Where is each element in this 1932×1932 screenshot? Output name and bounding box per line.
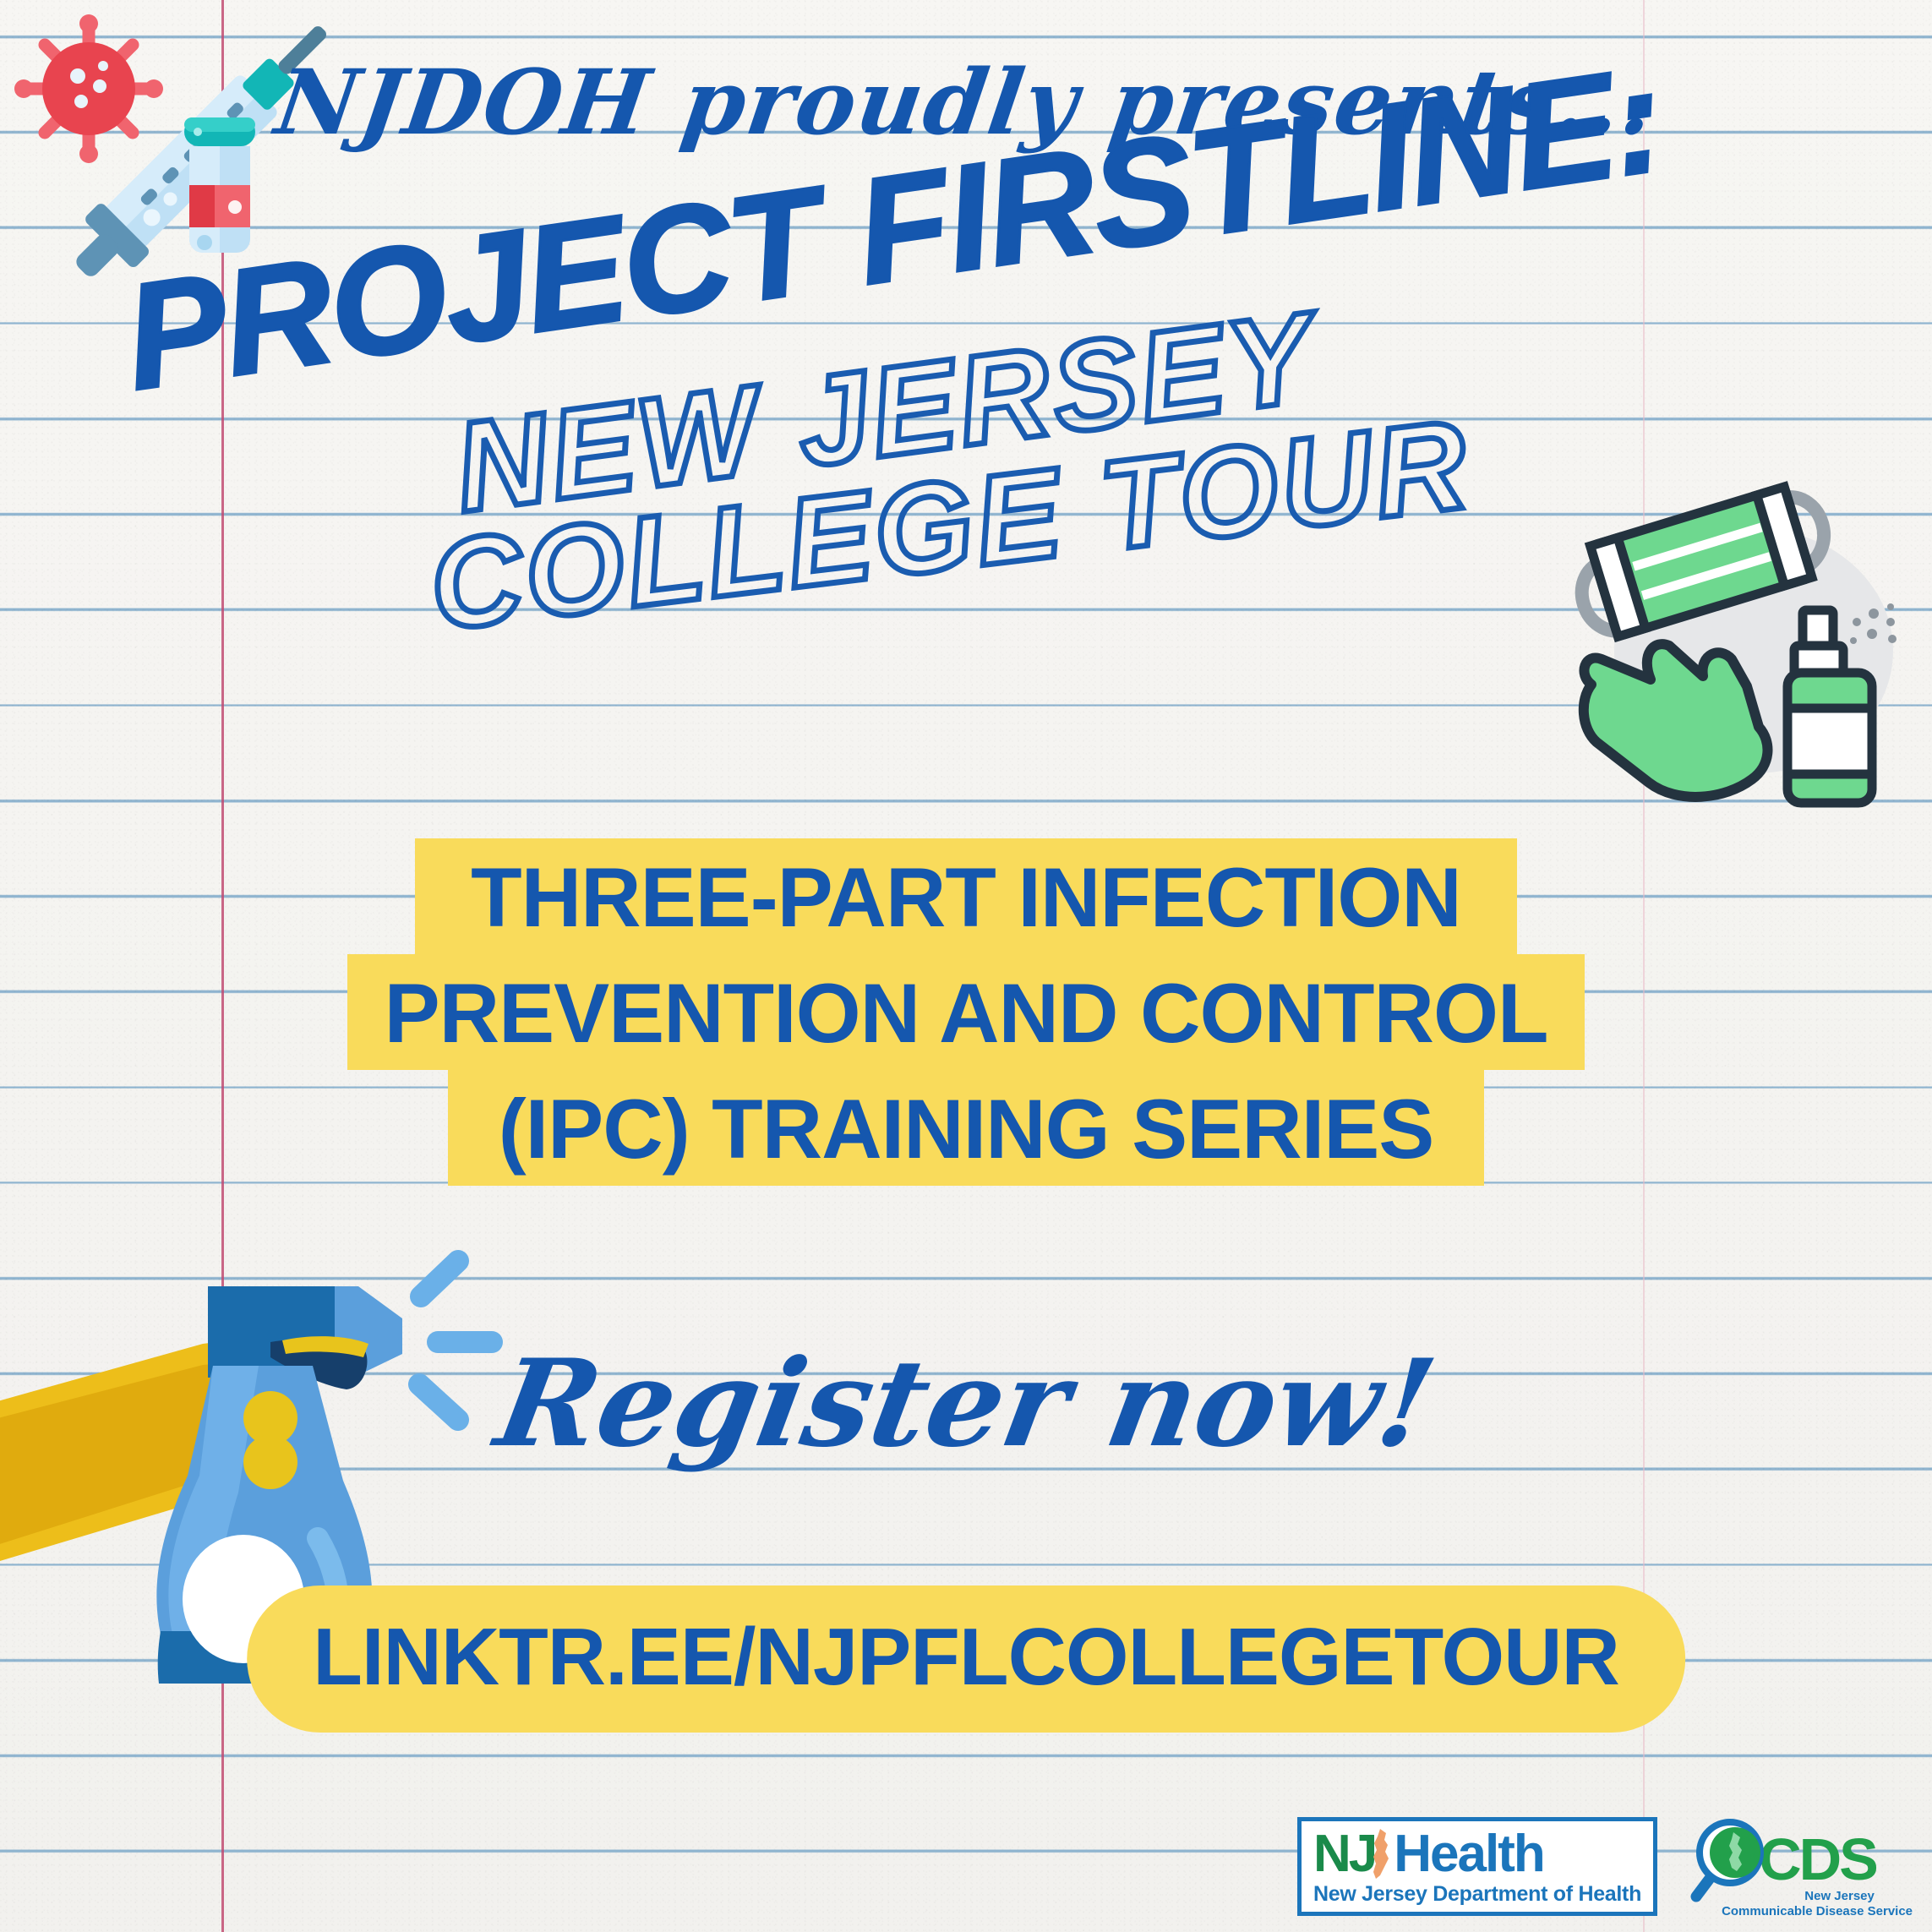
cds-wordmark: CDS bbox=[1759, 1830, 1876, 1889]
registration-url-button[interactable]: LINKTR.EE/NJPFLCOLLEGETOUR bbox=[247, 1585, 1685, 1733]
cds-logo: CDS New Jersey Communicable Disease Serv… bbox=[1689, 1815, 1876, 1917]
magnifying-glass-icon bbox=[1689, 1815, 1771, 1903]
nj-health-nj-text: NJ bbox=[1313, 1828, 1375, 1880]
cds-tagline: Communicable Disease Service bbox=[1722, 1904, 1913, 1918]
nj-health-health-text: Health bbox=[1394, 1828, 1543, 1880]
cds-state-label: New Jersey bbox=[1804, 1889, 1875, 1903]
poster-canvas: NJDOH proudly presents... PROJECT FIRSTL… bbox=[0, 0, 1932, 1932]
banner-line-3: (IPC) TRAINING SERIES bbox=[0, 1070, 1932, 1186]
banner-line-2: PREVENTION AND CONTROL bbox=[0, 954, 1932, 1070]
logo-row: NJ Health New Jersey Department of Healt… bbox=[1297, 1815, 1876, 1917]
training-series-banner: THREE-PART INFECTION PREVENTION AND CONT… bbox=[0, 838, 1932, 1186]
register-now-cta: Register now! bbox=[0, 1334, 1932, 1474]
new-jersey-state-icon bbox=[1370, 1828, 1392, 1880]
nj-health-wordmark: NJ Health bbox=[1313, 1828, 1544, 1880]
nj-health-tagline: New Jersey Department of Health bbox=[1313, 1882, 1641, 1907]
nj-health-logo: NJ Health New Jersey Department of Healt… bbox=[1297, 1817, 1657, 1916]
title-lockup: PROJECT FIRSTLINE: NEW JERSEY COLLEGE TO… bbox=[93, 226, 1783, 801]
banner-line-1: THREE-PART INFECTION bbox=[0, 838, 1932, 954]
